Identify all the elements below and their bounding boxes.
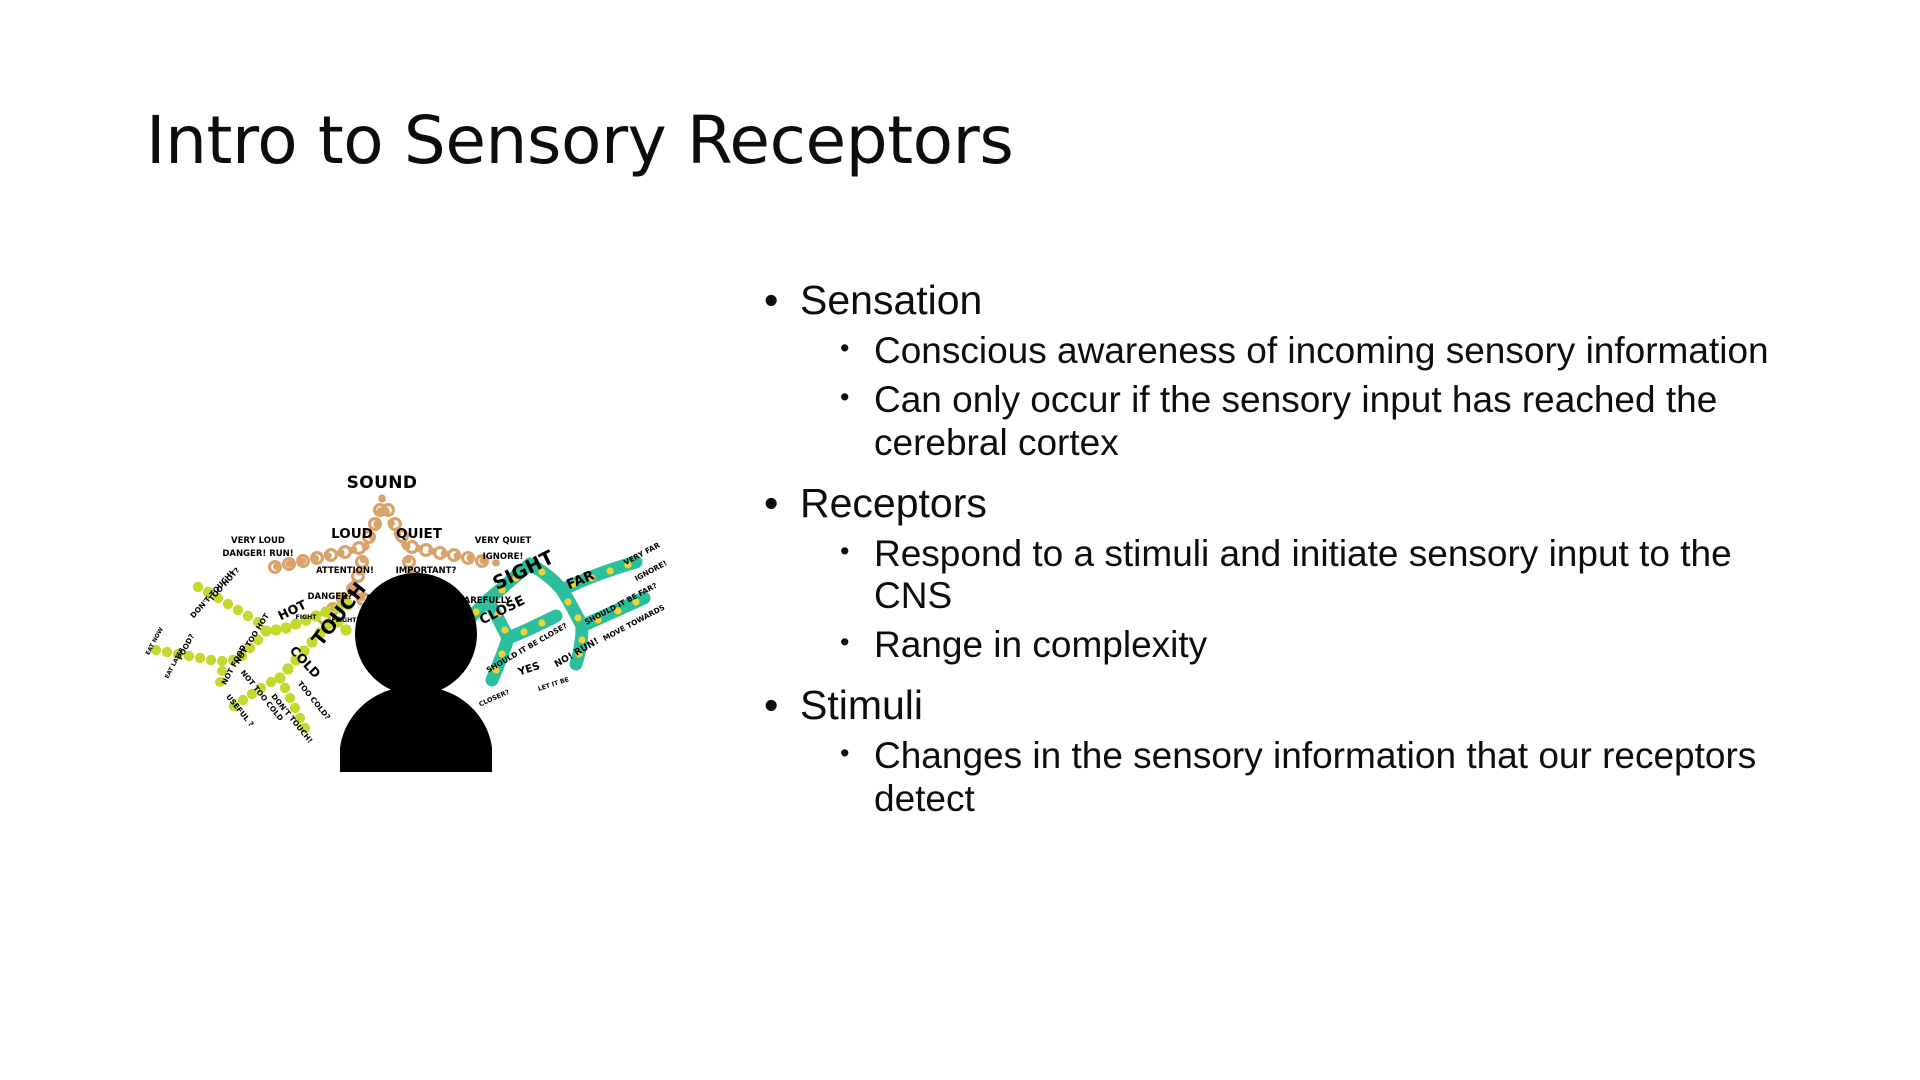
bullet-level1-receptors: • Receptors bbox=[760, 481, 1770, 527]
bullet-level1-label: Stimuli bbox=[800, 682, 923, 728]
bullet-glyph: • bbox=[764, 683, 778, 729]
bullet-level1-label: Sensation bbox=[800, 277, 982, 323]
bullet-glyph: • bbox=[840, 622, 849, 663]
bullet-level2-label: Conscious awareness of incoming sensory … bbox=[874, 330, 1770, 373]
svg-text:IMPORTANT?: IMPORTANT? bbox=[396, 566, 457, 576]
svg-text:ACTION?: ACTION? bbox=[365, 594, 406, 604]
svg-text:VERY QUIET: VERY QUIET bbox=[475, 536, 532, 546]
page-title: Intro to Sensory Receptors bbox=[146, 108, 1646, 174]
svg-text:DANGER! RUN!: DANGER! RUN! bbox=[222, 549, 293, 559]
bullet-level1-sensation: • Sensation bbox=[760, 278, 1770, 324]
bullet-level2-item: • Range in complexity bbox=[760, 624, 1770, 667]
sensory-decision-tree-image: SOUND LOUD QUIET VERY LOUD DANGER! RUN! … bbox=[130, 472, 705, 792]
svg-text:SOUND: SOUND bbox=[347, 473, 418, 493]
bullet-level2-item: • Changes in the sensory information tha… bbox=[760, 735, 1770, 821]
svg-text:ATTENTION!: ATTENTION! bbox=[316, 566, 374, 576]
svg-text:VERY LOUD: VERY LOUD bbox=[231, 536, 285, 546]
bullet-glyph: • bbox=[840, 377, 849, 418]
svg-text:FIGHT: FIGHT bbox=[295, 614, 317, 621]
bullet-level1-label: Receptors bbox=[800, 480, 987, 526]
sensory-diagram-svg: SOUND LOUD QUIET VERY LOUD DANGER! RUN! … bbox=[130, 472, 705, 792]
bullet-level1-stimuli: • Stimuli bbox=[760, 683, 1770, 729]
bullet-level2-item: • Conscious awareness of incoming sensor… bbox=[760, 330, 1770, 373]
bullet-level2-label: Changes in the sensory information that … bbox=[874, 735, 1770, 821]
svg-text:LOUD: LOUD bbox=[331, 526, 373, 542]
bullet-level2-item: • Respond to a stimuli and initiate sens… bbox=[760, 533, 1770, 619]
bullet-level2-label: Range in complexity bbox=[874, 624, 1770, 667]
svg-text:QUIET: QUIET bbox=[396, 526, 443, 542]
bullet-glyph: • bbox=[840, 733, 849, 774]
bullet-glyph: • bbox=[764, 481, 778, 527]
bullet-level2-label: Can only occur if the sensory input has … bbox=[874, 379, 1770, 465]
bullet-glyph: • bbox=[840, 328, 849, 369]
bullet-glyph: • bbox=[840, 531, 849, 572]
body-bullet-list: • Sensation • Conscious awareness of inc… bbox=[760, 278, 1770, 821]
bullet-glyph: • bbox=[764, 278, 778, 324]
bullet-level2-item: • Can only occur if the sensory input ha… bbox=[760, 379, 1770, 465]
slide-canvas: Intro to Sensory Receptors bbox=[0, 0, 1920, 1080]
bullet-level2-label: Respond to a stimuli and initiate sensor… bbox=[874, 533, 1770, 619]
